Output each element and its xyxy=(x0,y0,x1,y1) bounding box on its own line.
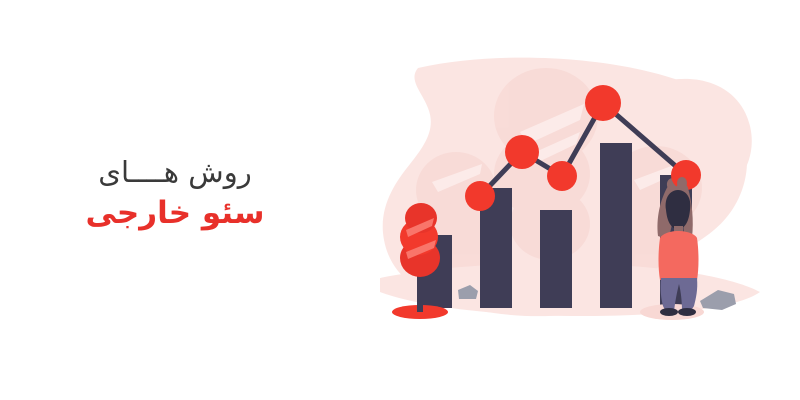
data-point-4 xyxy=(585,85,621,121)
headline-line-2: سئو خارجی xyxy=(0,192,350,234)
bar-3 xyxy=(540,210,572,308)
data-point-1 xyxy=(465,181,495,211)
data-point-3 xyxy=(547,161,577,191)
bar-4 xyxy=(600,143,632,308)
data-point-2 xyxy=(505,135,539,169)
headline-block: روش هــــای سئو خارجی xyxy=(0,152,350,234)
seo-banner: روش هــــای سئو خارجی xyxy=(0,0,800,400)
person-shirt xyxy=(659,231,699,280)
person-hand-right xyxy=(677,177,687,189)
person-shoe-left xyxy=(660,308,678,316)
headline-line-1: روش هــــای xyxy=(0,152,350,192)
seo-growth-chart-illustration xyxy=(370,40,770,340)
person-shoe-right xyxy=(678,308,696,316)
